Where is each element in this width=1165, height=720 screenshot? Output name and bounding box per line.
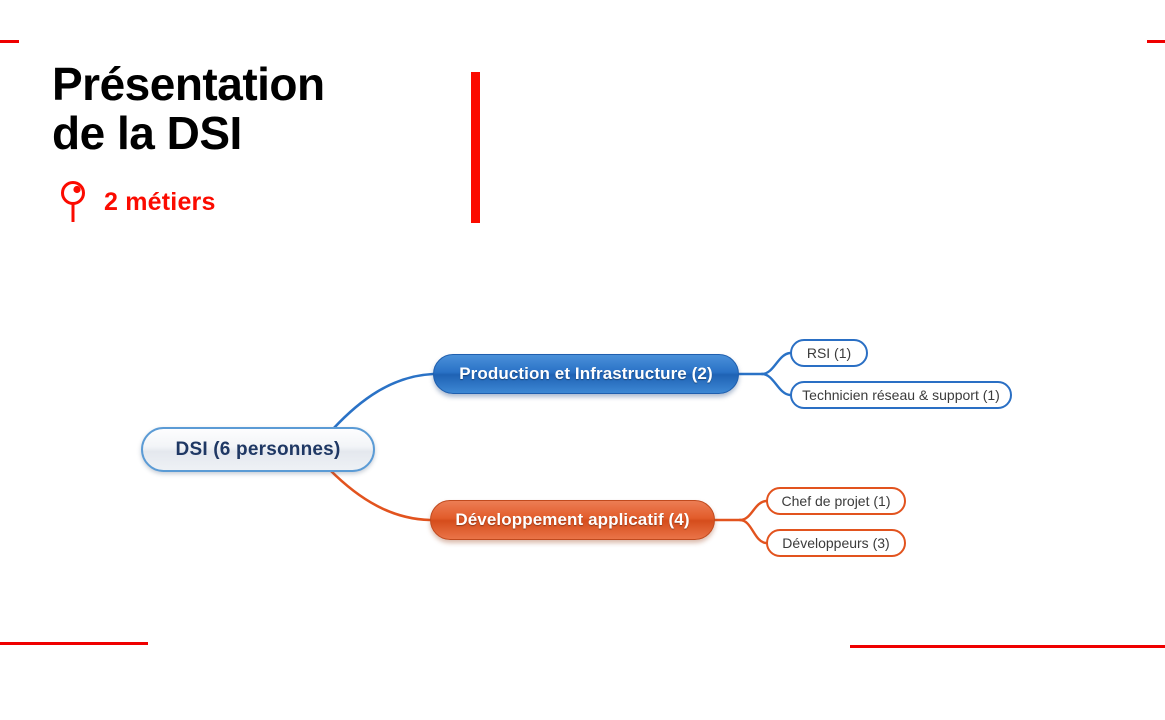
mindmap-node-development-label: Développement applicatif (4) — [455, 510, 689, 530]
connector-root-to-production — [333, 374, 433, 429]
mindmap-node-production[interactable]: Production et Infrastructure (2) — [433, 354, 739, 394]
mindmap-leaf-technicien[interactable]: Technicien réseau & support (1) — [790, 381, 1012, 409]
mindmap-diagram: DSI (6 personnes) Production et Infrastr… — [0, 0, 1165, 720]
mindmap-node-production-label: Production et Infrastructure (2) — [459, 364, 713, 384]
mindmap-node-root[interactable]: DSI (6 personnes) — [141, 427, 375, 472]
slide-canvas: Présentation de la DSI 2 métiers DSI ( — [0, 0, 1165, 720]
mindmap-leaf-chef-de-projet[interactable]: Chef de projet (1) — [766, 487, 906, 515]
mindmap-leaf-developpeurs-label: Développeurs (3) — [782, 535, 889, 551]
mindmap-node-root-label: DSI (6 personnes) — [176, 439, 341, 461]
connector-development-to-chef — [740, 501, 766, 520]
mindmap-leaf-chef-de-projet-label: Chef de projet (1) — [782, 493, 891, 509]
mindmap-leaf-developpeurs[interactable]: Développeurs (3) — [766, 529, 906, 557]
connector-root-to-development — [330, 470, 430, 520]
mindmap-node-development[interactable]: Développement applicatif (4) — [430, 500, 715, 540]
connector-production-to-rsi — [762, 353, 790, 374]
mindmap-leaf-rsi-label: RSI (1) — [807, 345, 851, 361]
connector-development-to-developpeurs — [740, 520, 766, 543]
mindmap-leaf-technicien-label: Technicien réseau & support (1) — [802, 387, 1000, 403]
connector-production-to-technicien — [762, 374, 790, 395]
mindmap-leaf-rsi[interactable]: RSI (1) — [790, 339, 868, 367]
